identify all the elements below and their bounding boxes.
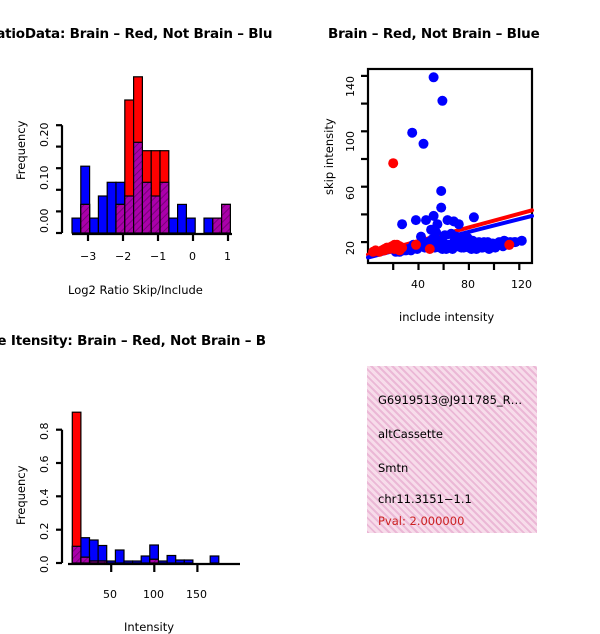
locus-text: chr11.3151−1.1 (378, 492, 472, 506)
intensity-y-tick-2: 0.4 (38, 489, 51, 507)
scatter-panel: Brain – Red, Not Brain – Blue (300, 0, 600, 310)
scatter-y-tick-1: 60 (344, 186, 357, 200)
scatter-y-tick-3: 140 (344, 76, 357, 97)
ratio-x-tick-2: −1 (150, 250, 166, 263)
ratio-y-axis-label: Frequency (14, 121, 28, 180)
ratio-y-tick-0: 0.00 (38, 209, 51, 234)
ratio-histogram-title: RatioData: Brain – Red, Not Brain – Blu (0, 26, 272, 42)
event-type-text: altCassette (378, 427, 443, 441)
scatter-x-tick-1: 80 (461, 278, 475, 291)
gene-intensity-title: ne Itensity: Brain – Red, Not Brain – B (0, 333, 266, 349)
histogram-bars (72, 412, 219, 563)
intensity-x-axis-label: Intensity (124, 620, 174, 634)
ratio-x-axis-label: Log2 Ratio Skip/Include (68, 283, 203, 297)
scatter-title: Brain – Red, Not Brain – Blue (328, 26, 540, 42)
intensity-y-tick-4: 0.8 (38, 423, 51, 441)
scatter-x-tick-2: 120 (511, 278, 532, 291)
gene-symbol-text: Smtn (378, 461, 408, 475)
event-info-panel: G6919513@J911785_R… altCassette Smtn chr… (367, 366, 537, 533)
scatter-x-axis-label: include intensity (399, 310, 494, 324)
intensity-y-axis-label: Frequency (14, 466, 28, 525)
ratio-x-tick-0: −3 (80, 250, 96, 263)
intensity-x-tick-2: 150 (186, 588, 207, 601)
ratio-x-tick-1: −2 (115, 250, 131, 263)
y-axis (56, 125, 62, 233)
pval-text: Pval: 2.000000 (378, 514, 464, 528)
intensity-x-tick-1: 100 (143, 588, 164, 601)
intensity-y-tick-1: 0.2 (38, 523, 51, 541)
intensity-x-tick-0: 50 (103, 588, 117, 601)
ratio-y-tick-2: 0.20 (38, 123, 51, 148)
intensity-y-tick-3: 0.6 (38, 456, 51, 474)
x-axis (72, 234, 232, 241)
scatter-x-tick-0: 40 (411, 278, 425, 291)
ratio-x-tick-3: 0 (189, 250, 196, 263)
x-axis (68, 564, 240, 572)
gene-intensity-panel: ne Itensity: Brain – Red, Not Brain – B (0, 310, 300, 600)
ratio-histogram-panel: RatioData: Brain – Red, Not Brain – Blu (0, 0, 300, 310)
scatter-y-tick-2: 100 (344, 131, 357, 152)
intensity-y-tick-0: 0.0 (38, 556, 51, 574)
scatter-y-tick-0: 20 (344, 241, 357, 255)
scatter-y-axis-label: skip intensity (322, 118, 336, 195)
y-axis (56, 430, 62, 563)
histogram-bars (72, 77, 230, 233)
event-id-text: G6919513@J911785_R… (378, 393, 522, 407)
ratio-y-tick-1: 0.10 (38, 166, 51, 191)
ratio-x-tick-4: 1 (224, 250, 231, 263)
